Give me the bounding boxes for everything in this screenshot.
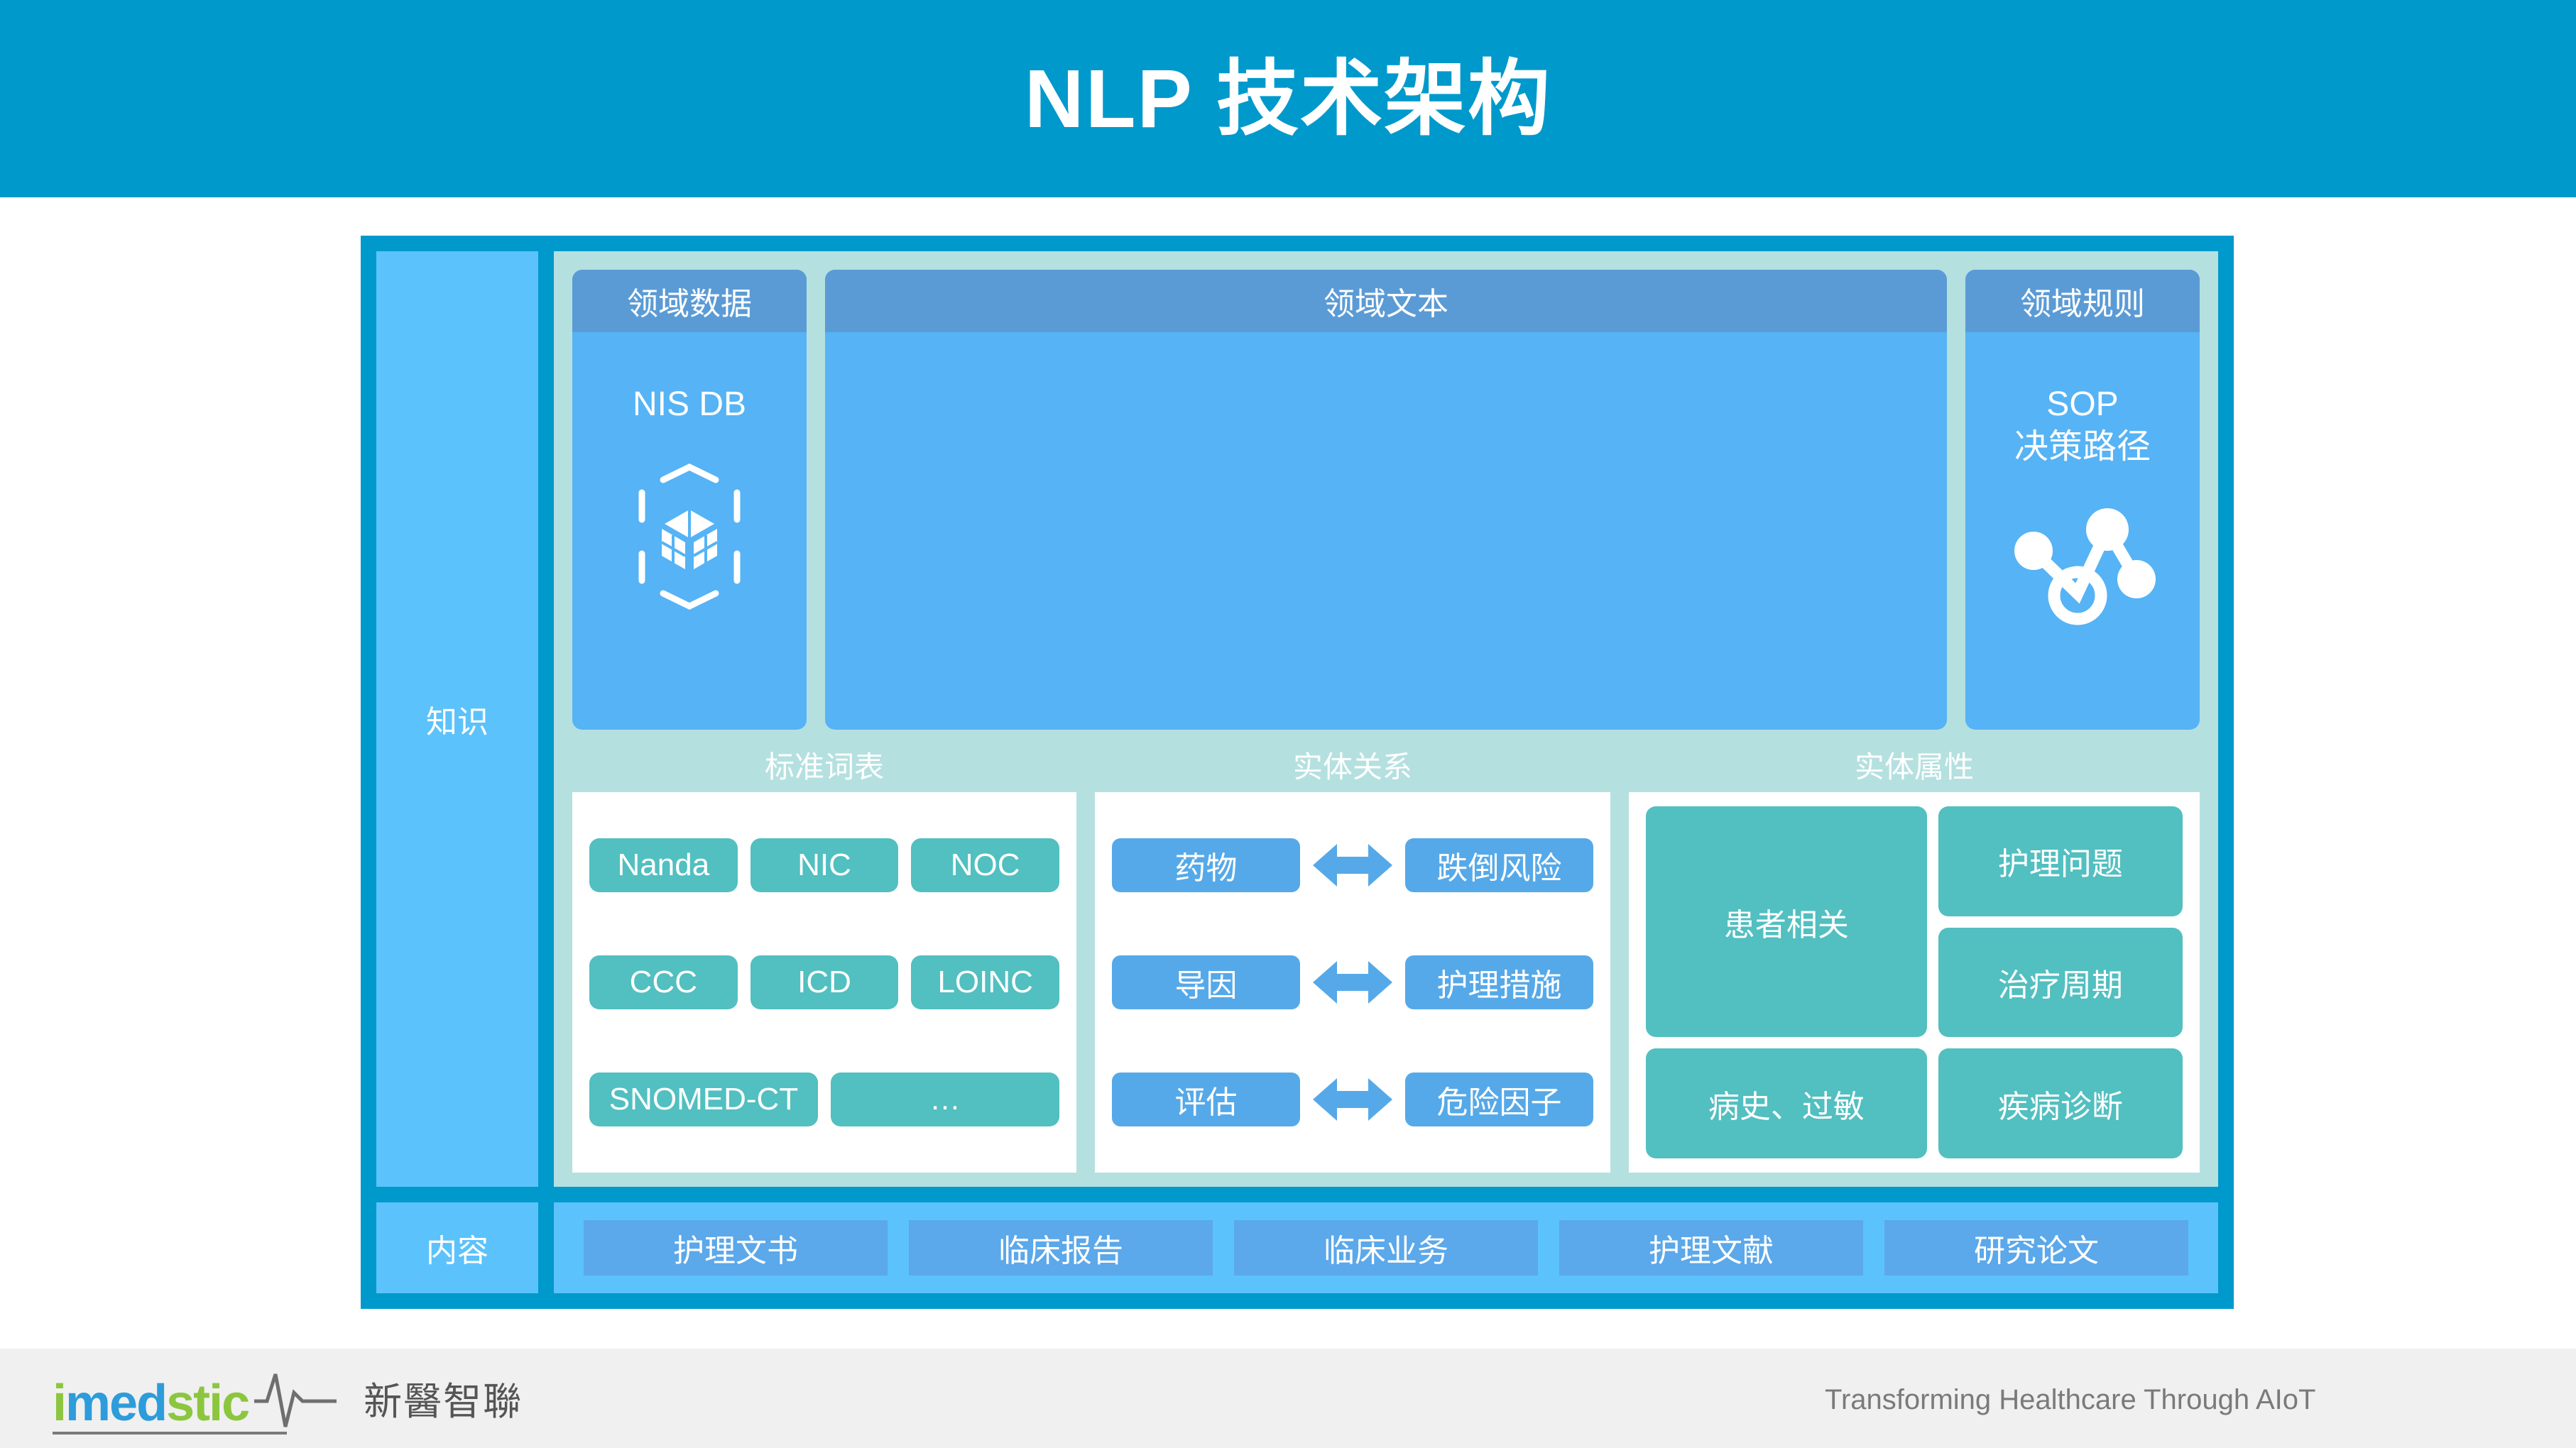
panel-domain-rule-caption-line2: 决策路径 (2014, 428, 2151, 466)
vocab-chip[interactable]: NOC (911, 838, 1059, 892)
section-standard-vocabulary-title: 标准词表 (572, 742, 1076, 792)
content-item[interactable]: 护理文献 (1559, 1220, 1863, 1276)
attribute-cell[interactable]: 疾病诊断 (1938, 1048, 2183, 1158)
content-item[interactable]: 研究论文 (1884, 1220, 2188, 1276)
logo-letter-i: i (53, 1375, 65, 1432)
panel-domain-data[interactable]: 领域数据 NIS DB (572, 270, 807, 730)
section-entity-attributes-title: 实体属性 (1629, 742, 2200, 792)
relation-left-entity[interactable]: 药物 (1112, 838, 1300, 892)
panel-domain-data-caption: NIS DB (633, 383, 746, 426)
content-item[interactable]: 临床业务 (1234, 1220, 1538, 1276)
content-item[interactable]: 临床报告 (909, 1220, 1213, 1276)
content-item[interactable]: 护理文书 (584, 1220, 888, 1276)
row-label-content: 内容 (376, 1202, 538, 1293)
entity-attributes-box: 患者相关护理问题治疗周期病史、过敏疾病诊断 (1629, 792, 2200, 1173)
vocab-chip-row: CCCICDLOINC (589, 955, 1059, 1009)
architecture-frame: 知识 领域数据 NIS DB (361, 236, 2234, 1309)
node-link-chart-icon (2007, 501, 2159, 632)
attribute-cell[interactable]: 护理问题 (1938, 806, 2183, 916)
cube-hexagon-icon (615, 459, 764, 618)
attribute-cell-primary[interactable]: 患者相关 (1646, 806, 1927, 1037)
panel-domain-rule[interactable]: 领域规则 SOP 决策路径 (1965, 270, 2200, 730)
knowledge-body: 领域数据 NIS DB (554, 251, 2218, 1187)
section-standard-vocabulary: 标准词表 NandaNICNOCCCCICDLOINCSNOMED-CT… (572, 742, 1076, 1173)
footer-tagline: Transforming Healthcare Through AIoT (1825, 1384, 2315, 1416)
section-entity-relations-title: 实体关系 (1095, 742, 1610, 792)
relation-row: 评估危险因子 (1112, 1073, 1593, 1126)
panel-domain-text[interactable]: 领域文本 (825, 270, 1947, 730)
double-arrow-icon (1310, 840, 1395, 891)
logo-letters-stic: stic (166, 1375, 249, 1432)
row-label-knowledge: 知识 (376, 251, 538, 1187)
page-header: NLP 技术架构 (0, 0, 2576, 197)
brand-logo: imedstic 新醫智聯 (53, 1361, 523, 1429)
vocab-chip[interactable]: LOINC (911, 955, 1059, 1009)
vocab-chip[interactable]: SNOMED-CT (589, 1073, 818, 1126)
logo-letters-med: med (65, 1375, 166, 1432)
relation-right-entity[interactable]: 危险因子 (1405, 1073, 1593, 1126)
double-arrow-icon (1310, 1074, 1395, 1125)
panel-domain-rule-caption-line1: SOP (2046, 385, 2118, 423)
relation-left-entity[interactable]: 评估 (1112, 1073, 1300, 1126)
entity-relations-box: 药物跌倒风险导因护理措施评估危险因子 (1095, 792, 1610, 1173)
sub-section-row: 标准词表 NandaNICNOCCCCICDLOINCSNOMED-CT… 实体… (572, 742, 2200, 1173)
logo-wordmark: imedstic (53, 1378, 249, 1429)
content-items: 护理文书临床报告临床业务护理文献研究论文 (554, 1202, 2218, 1293)
knowledge-row: 知识 领域数据 NIS DB (376, 251, 2218, 1187)
panel-domain-text-title: 领域文本 (825, 270, 1947, 332)
attribute-cell[interactable]: 病史、过敏 (1646, 1048, 1927, 1158)
ecg-wave-icon (253, 1361, 338, 1433)
relation-right-entity[interactable]: 护理措施 (1405, 955, 1593, 1009)
double-arrow-icon (1310, 957, 1395, 1008)
vocab-chip-row: SNOMED-CT… (589, 1073, 1059, 1126)
page-footer: imedstic 新醫智聯 Transforming Healthcare Th… (0, 1349, 2576, 1448)
logo-underline (53, 1432, 287, 1435)
panel-domain-data-title: 领域数据 (572, 270, 807, 332)
relation-row: 药物跌倒风险 (1112, 838, 1593, 892)
relation-left-entity[interactable]: 导因 (1112, 955, 1300, 1009)
panel-domain-rule-caption: SOP 决策路径 (2014, 383, 2151, 468)
panel-domain-rule-title: 领域规则 (1965, 270, 2200, 332)
page-title: NLP 技术架构 (1025, 57, 1551, 140)
section-entity-relations: 实体关系 药物跌倒风险导因护理措施评估危险因子 (1095, 742, 1610, 1173)
vocab-chip-row: NandaNICNOC (589, 838, 1059, 892)
standard-vocabulary-box: NandaNICNOCCCCICDLOINCSNOMED-CT… (572, 792, 1076, 1173)
relation-row: 导因护理措施 (1112, 955, 1593, 1009)
vocab-chip[interactable]: … (831, 1073, 1059, 1126)
relation-right-entity[interactable]: 跌倒风险 (1405, 838, 1593, 892)
domain-panel-row: 领域数据 NIS DB (572, 270, 2200, 730)
content-row: 内容 护理文书临床报告临床业务护理文献研究论文 (376, 1202, 2218, 1293)
vocab-chip[interactable]: ICD (751, 955, 899, 1009)
vocab-chip[interactable]: CCC (589, 955, 738, 1009)
vocab-chip[interactable]: Nanda (589, 838, 738, 892)
attribute-cell[interactable]: 治疗周期 (1938, 928, 2183, 1038)
logo-chinese-name: 新醫智聯 (364, 1370, 523, 1426)
vocab-chip[interactable]: NIC (751, 838, 899, 892)
section-entity-attributes: 实体属性 患者相关护理问题治疗周期病史、过敏疾病诊断 (1629, 742, 2200, 1173)
